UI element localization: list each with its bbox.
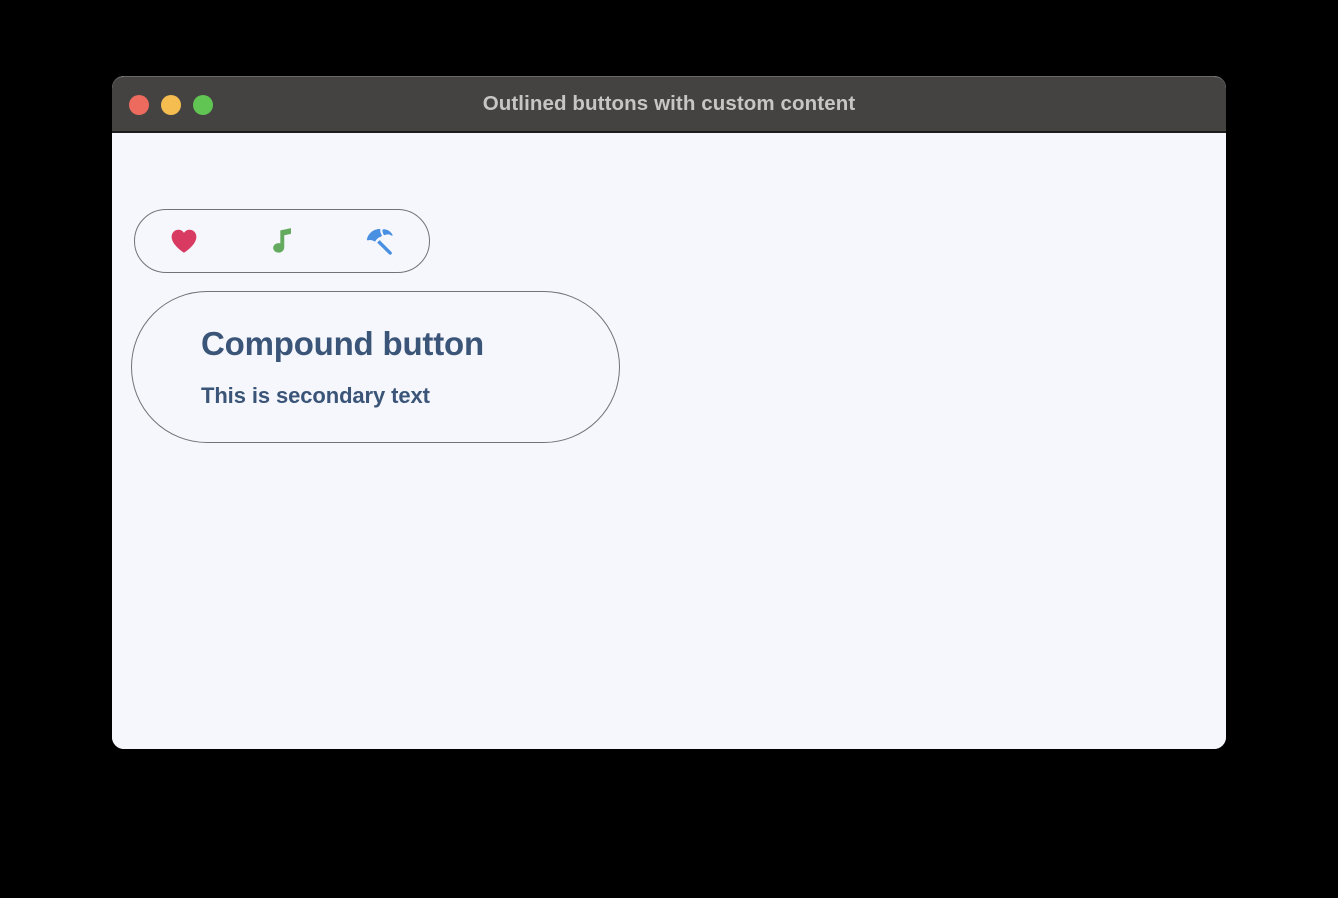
maximize-window-button[interactable] xyxy=(193,95,213,115)
compound-button[interactable]: Compound button This is secondary text xyxy=(131,291,620,443)
heart-icon-button[interactable] xyxy=(135,210,233,272)
beach-umbrella-icon xyxy=(364,225,396,257)
compound-button-secondary-text: This is secondary text xyxy=(201,384,430,408)
window-titlebar: Outlined buttons with custom content xyxy=(112,76,1226,133)
music-note-icon-button[interactable] xyxy=(233,210,331,272)
heart-icon xyxy=(169,226,199,256)
window-controls xyxy=(129,95,213,115)
app-window: Outlined buttons with custom content xyxy=(112,76,1226,749)
close-window-button[interactable] xyxy=(129,95,149,115)
music-note-icon xyxy=(267,225,297,257)
compound-button-primary-text: Compound button xyxy=(201,326,484,362)
minimize-window-button[interactable] xyxy=(161,95,181,115)
window-title: Outlined buttons with custom content xyxy=(483,92,856,116)
outlined-icon-button-group xyxy=(134,209,430,273)
window-content: Compound button This is secondary text xyxy=(112,133,1226,749)
beach-umbrella-icon-button[interactable] xyxy=(331,210,429,272)
